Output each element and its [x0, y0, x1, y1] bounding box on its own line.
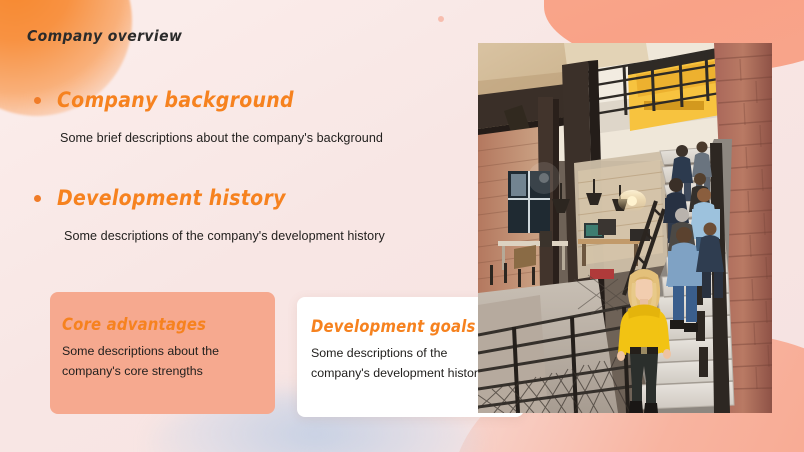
card-body: Some descriptions of the company's devel… — [311, 343, 504, 383]
card-body: Some descriptions about the company's co… — [62, 341, 257, 381]
bullet-heading: Development history — [57, 186, 286, 210]
card-title: Core advantages — [62, 315, 257, 334]
card-core-advantages: Core advantages Some descriptions about … — [50, 292, 275, 414]
bullet-heading-row: Company background — [34, 88, 383, 112]
bullet-dot-icon — [34, 97, 41, 104]
decorative-dot — [438, 16, 444, 22]
bullet-item-development-history: Development history Some descriptions of… — [34, 186, 385, 243]
office-photo — [478, 43, 772, 413]
bullet-description: Some brief descriptions about the compan… — [60, 131, 383, 145]
bullet-item-company-background: Company background Some brief descriptio… — [34, 88, 383, 145]
bullet-description: Some descriptions of the company's devel… — [64, 229, 385, 243]
slide: Company overview Company background Some… — [0, 0, 804, 452]
bullet-dot-icon — [34, 195, 41, 202]
bullet-heading: Company background — [57, 88, 294, 112]
bullet-heading-row: Development history — [34, 186, 385, 210]
page-title: Company overview — [27, 27, 182, 45]
card-title: Development goals — [311, 317, 504, 336]
